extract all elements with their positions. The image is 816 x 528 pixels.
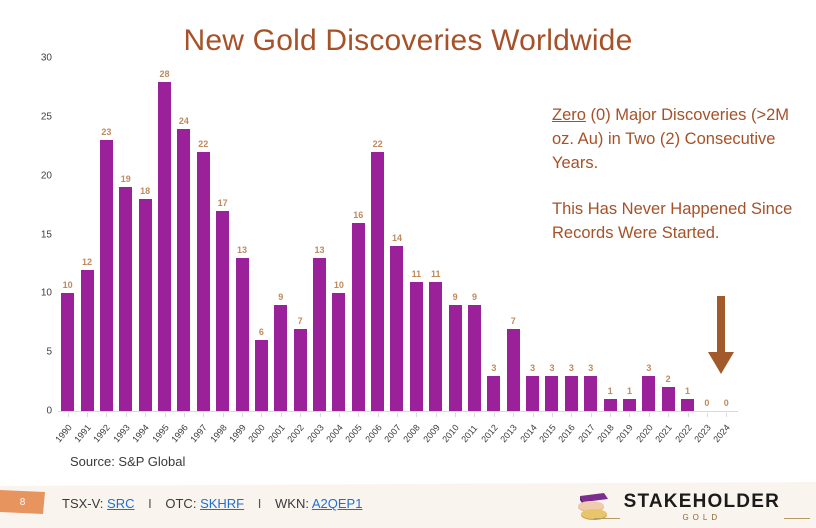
bar <box>584 376 597 411</box>
bar-value-label: 10 <box>329 280 348 290</box>
footer-bar: 8 TSX-V: SRC I OTC: SKHRF I WKN: A2QEP1 … <box>0 482 816 528</box>
bar-value-label: 14 <box>387 233 406 243</box>
bar-value-label: 7 <box>290 316 309 326</box>
otc-symbol-link[interactable]: SKHRF <box>200 496 244 511</box>
x-axis-tick <box>320 413 321 417</box>
bar-value-label: 9 <box>465 292 484 302</box>
x-axis-tick <box>707 413 708 417</box>
x-axis-tick <box>68 413 69 417</box>
x-axis-tick-label: 1993 <box>111 423 132 445</box>
x-axis-tick <box>474 413 475 417</box>
bar <box>390 246 403 411</box>
bar-value-label: 1 <box>620 386 639 396</box>
x-axis-tick-label: 2003 <box>305 423 326 445</box>
x-axis-tick <box>436 413 437 417</box>
x-axis-tick <box>571 413 572 417</box>
x-axis-tick-label: 2023 <box>692 423 713 445</box>
x-axis-tick-label: 1994 <box>130 423 151 445</box>
callout-zero-emphasis: Zero <box>552 106 586 124</box>
bar-value-label: 9 <box>271 292 290 302</box>
bar-value-label: 18 <box>135 186 154 196</box>
x-axis-tick <box>591 413 592 417</box>
x-axis-tick <box>339 413 340 417</box>
bar-value-label: 17 <box>213 198 232 208</box>
x-axis-tick-label: 1996 <box>169 423 190 445</box>
x-axis-tick <box>261 413 262 417</box>
bar-slot: 231992 <box>97 58 116 411</box>
bar-value-label: 24 <box>174 116 193 126</box>
x-axis-tick <box>106 413 107 417</box>
bar <box>623 399 636 411</box>
x-axis-tick <box>668 413 669 417</box>
bar-slot: 142007 <box>387 58 406 411</box>
bar <box>119 187 132 411</box>
logo-text: STAKEHOLDER GOLD <box>624 492 780 522</box>
x-axis-tick-label: 1990 <box>53 423 74 445</box>
bar <box>313 258 326 411</box>
callout-paragraph-1: Zero (0) Major Discoveries (>2M oz. Au) … <box>552 104 814 176</box>
x-axis-tick-label: 2021 <box>653 423 674 445</box>
x-axis-tick-label: 2010 <box>440 423 461 445</box>
x-axis-tick-label: 2008 <box>402 423 423 445</box>
x-axis-tick-label: 2011 <box>460 423 480 444</box>
bar-slot: 112009 <box>426 58 445 411</box>
x-axis-tick <box>223 413 224 417</box>
bar-value-label: 11 <box>407 269 426 279</box>
bar-value-label: 13 <box>232 245 251 255</box>
bar-slot: 171998 <box>213 58 232 411</box>
bar-value-label: 1 <box>600 386 619 396</box>
x-axis-tick-label: 2015 <box>537 423 558 445</box>
bar <box>197 152 210 411</box>
x-axis-tick <box>610 413 611 417</box>
x-axis-tick <box>242 413 243 417</box>
x-axis-line <box>58 411 738 412</box>
bar-value-label: 9 <box>445 292 464 302</box>
y-axis-tick-label: 15 <box>41 229 52 240</box>
bar-value-label: 3 <box>639 363 658 373</box>
bar <box>449 305 462 411</box>
x-axis-tick <box>455 413 456 417</box>
wkn-label: WKN: <box>275 496 309 511</box>
x-axis-tick-label: 2024 <box>712 423 733 445</box>
bar-value-label: 3 <box>484 363 503 373</box>
x-axis-tick <box>397 413 398 417</box>
bar-value-label: 3 <box>542 363 561 373</box>
bar-value-label: 19 <box>116 174 135 184</box>
bar-value-label: 22 <box>368 139 387 149</box>
wkn-symbol-link[interactable]: A2QEP1 <box>312 496 363 511</box>
callout-paragraph-1-rest: (0) Major Discoveries (>2M oz. Au) in Tw… <box>552 106 789 172</box>
x-axis-tick <box>629 413 630 417</box>
bar-slot: 181994 <box>135 58 154 411</box>
x-axis-tick-label: 1997 <box>189 423 210 445</box>
bar <box>177 129 190 411</box>
bar <box>158 82 171 411</box>
logo-subtext: GOLD <box>624 514 780 522</box>
bar-value-label: 10 <box>58 280 77 290</box>
bar <box>100 140 113 411</box>
ticker-list: TSX-V: SRC I OTC: SKHRF I WKN: A2QEP1 <box>62 496 362 511</box>
x-axis-tick <box>688 413 689 417</box>
bar-slot: 62000 <box>252 58 271 411</box>
bar <box>410 282 423 411</box>
callout-paragraph-2: This Has Never Happened Since Records We… <box>552 198 814 246</box>
bar <box>545 376 558 411</box>
bar-value-label: 7 <box>504 316 523 326</box>
bar-value-label: 0 <box>717 398 736 408</box>
bar <box>61 293 74 411</box>
bar-slot: 32012 <box>484 58 503 411</box>
bar-slot: 32014 <box>523 58 542 411</box>
source-note: Source: S&P Global <box>70 454 185 469</box>
bar-value-label: 0 <box>697 398 716 408</box>
bar-value-label: 13 <box>310 245 329 255</box>
bar-value-label: 12 <box>77 257 96 267</box>
bar-slot: 72013 <box>504 58 523 411</box>
page-title: New Gold Discoveries Worldwide <box>0 24 816 58</box>
x-axis-tick-label: 1995 <box>150 423 171 445</box>
tsxv-symbol-link[interactable]: SRC <box>107 496 134 511</box>
y-axis-tick-label: 10 <box>41 288 52 299</box>
bar-slot: 132003 <box>310 58 329 411</box>
logo-wordmark: STAKEHOLDER <box>624 492 780 511</box>
bar-value-label: 28 <box>155 69 174 79</box>
x-axis-tick <box>145 413 146 417</box>
x-axis-tick-label: 2016 <box>557 423 578 445</box>
bar-value-label: 23 <box>97 127 116 137</box>
bar-slot: 92001 <box>271 58 290 411</box>
bar <box>332 293 345 411</box>
callout-text-block: Zero (0) Major Discoveries (>2M oz. Au) … <box>552 104 814 268</box>
x-axis-tick-label: 2007 <box>382 423 403 445</box>
bar <box>565 376 578 411</box>
x-axis-tick <box>649 413 650 417</box>
tsxv-label: TSX-V: <box>62 496 103 511</box>
x-axis-tick <box>281 413 282 417</box>
bar <box>681 399 694 411</box>
bar-slot: 222006 <box>368 58 387 411</box>
x-axis-tick <box>552 413 553 417</box>
bar-value-label: 3 <box>581 363 600 373</box>
x-axis-tick-label: 2019 <box>615 423 636 445</box>
bar-value-label: 3 <box>562 363 581 373</box>
x-axis-tick-label: 1999 <box>227 423 248 445</box>
bar-slot: 131999 <box>232 58 251 411</box>
x-axis-tick-label: 2013 <box>498 423 519 445</box>
separator-1: I <box>148 496 152 511</box>
x-axis-tick-label: 2000 <box>247 423 268 445</box>
x-axis-tick <box>87 413 88 417</box>
bar <box>216 211 229 411</box>
bar <box>294 329 307 411</box>
bar <box>274 305 287 411</box>
bar-slot: 221997 <box>194 58 213 411</box>
bar-slot: 121991 <box>77 58 96 411</box>
x-axis-tick-label: 2002 <box>285 423 306 445</box>
bar <box>352 223 365 411</box>
x-axis-tick-label: 1991 <box>72 423 93 445</box>
x-axis-tick-label: 2006 <box>363 423 384 445</box>
bar-value-label: 2 <box>659 374 678 384</box>
x-axis-tick-label: 2020 <box>634 423 655 445</box>
bar <box>139 199 152 411</box>
bar-slot: 101990 <box>58 58 77 411</box>
bar <box>507 329 520 411</box>
x-axis-tick <box>533 413 534 417</box>
bar-slot: 92010 <box>445 58 464 411</box>
x-axis-tick-label: 2004 <box>324 423 345 445</box>
x-axis-tick-label: 2012 <box>479 423 500 445</box>
x-axis-tick-label: 1992 <box>92 423 113 445</box>
bar-slot: 112008 <box>407 58 426 411</box>
bar-slot: 191993 <box>116 58 135 411</box>
x-axis-tick-label: 1998 <box>208 423 229 445</box>
x-axis-tick-label: 2017 <box>576 423 597 445</box>
x-axis-tick <box>300 413 301 417</box>
x-axis-tick-label: 2001 <box>266 423 287 445</box>
x-axis-tick <box>378 413 379 417</box>
bar-value-label: 11 <box>426 269 445 279</box>
x-axis-tick <box>184 413 185 417</box>
x-axis-tick <box>358 413 359 417</box>
x-axis-tick-label: 2014 <box>518 423 539 445</box>
bar-value-label: 22 <box>194 139 213 149</box>
x-axis-tick <box>513 413 514 417</box>
y-axis-tick-label: 30 <box>41 53 52 64</box>
bar <box>429 282 442 411</box>
x-axis-tick <box>165 413 166 417</box>
bar <box>468 305 481 411</box>
x-axis-tick <box>203 413 204 417</box>
stakeholder-gold-logo: STAKEHOLDER GOLD <box>574 490 780 524</box>
bar <box>604 399 617 411</box>
bar-value-label: 1 <box>678 386 697 396</box>
separator-2: I <box>258 496 262 511</box>
x-axis-tick-label: 2018 <box>595 423 616 445</box>
bar-slot: 92011 <box>465 58 484 411</box>
x-axis-tick-label: 2005 <box>344 423 365 445</box>
y-axis-tick-label: 20 <box>41 170 52 181</box>
bar-slot: 102004 <box>329 58 348 411</box>
bar <box>526 376 539 411</box>
slide-number-badge: 8 <box>0 490 45 514</box>
bar <box>81 270 94 411</box>
bar-value-label: 16 <box>349 210 368 220</box>
otc-label: OTC: <box>165 496 196 511</box>
bar <box>662 387 675 411</box>
bar-value-label: 3 <box>523 363 542 373</box>
x-axis-tick <box>126 413 127 417</box>
x-axis-tick-label: 2022 <box>673 423 694 445</box>
y-axis-tick-label: 5 <box>46 347 52 358</box>
x-axis-tick <box>726 413 727 417</box>
x-axis-tick <box>416 413 417 417</box>
bar-value-label: 6 <box>252 327 271 337</box>
bar <box>487 376 500 411</box>
x-axis-tick <box>494 413 495 417</box>
bar <box>255 340 268 411</box>
bar <box>236 258 249 411</box>
bar-slot: 72002 <box>290 58 309 411</box>
bar <box>371 152 384 411</box>
bar-slot: 162005 <box>349 58 368 411</box>
bar-slot: 281995 <box>155 58 174 411</box>
down-arrow-icon <box>706 296 736 376</box>
x-axis-tick-label: 2009 <box>421 423 442 445</box>
y-axis-tick-label: 0 <box>46 406 52 417</box>
bar <box>642 376 655 411</box>
y-axis-tick-label: 25 <box>41 111 52 122</box>
bar-slot: 241996 <box>174 58 193 411</box>
y-axis: 051015202530 <box>26 58 52 411</box>
